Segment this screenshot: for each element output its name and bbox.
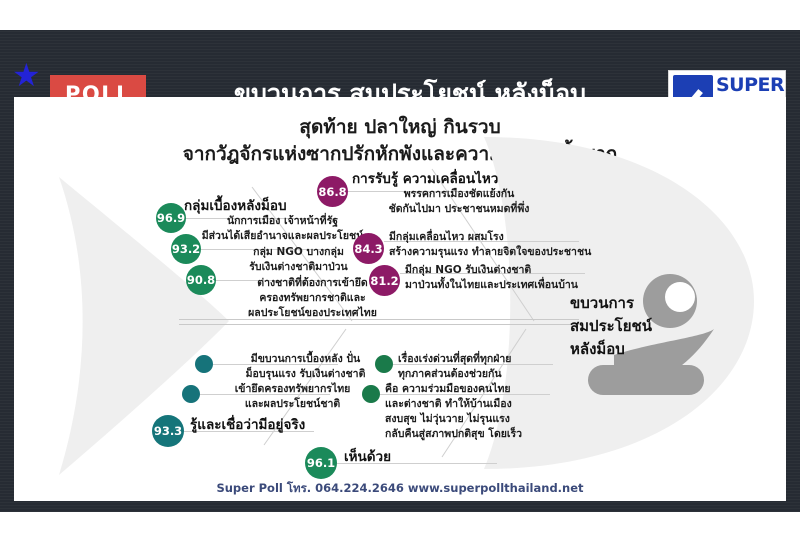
header-bar: ★ POLL ขบวนการ สมประโยชน์ หลังม็อบ SUPER… xyxy=(0,30,800,97)
dot-bottom-right-1 xyxy=(375,355,393,373)
br2-line-4: กลับคืนสู่สภาพปกติสุข โดยเร็ว xyxy=(385,427,522,442)
badge-top-left-3: 90.8 xyxy=(186,265,216,295)
head-label-line-2: สมประโยชน์ xyxy=(570,315,652,338)
br2-line-1: คือ ความร่วมมือของคนไทย xyxy=(385,382,522,397)
branch-bottom-right-item-2: คือ ความร่วมมือของคนไทย และต่างชาติ ทำให… xyxy=(385,382,522,442)
content-card: สุดท้าย ปลาใหญ่ กินรวบ จากวัฎจักรแห่งซาก… xyxy=(14,97,786,501)
head-label-line-1: ขบวนการ xyxy=(570,292,652,315)
branch-top-right-item-2: มีกลุ่มเคลื่อนไหว ผสมโรง สร้างความรุนแรง… xyxy=(389,230,591,260)
tl1-line-2: มีส่วนได้เสียอำนาจและผลประโยชน์ xyxy=(190,229,375,244)
infographic-root: ★ POLL ขบวนการ สมประโยชน์ หลังม็อบ SUPER… xyxy=(0,0,800,546)
tl1-line-1: นักการเมือง เจ้าหน้าที่รัฐ xyxy=(190,214,375,229)
tl3-line-3: ผลประโยชน์ของประเทศไทย xyxy=(220,306,405,321)
branch-top-right-item-3: มีกลุ่ม NGO รับเงินต่างชาติ มาป่วนทั้งใน… xyxy=(405,263,578,293)
badge-top-right-1: 86.8 xyxy=(317,176,348,207)
branch-top-left: กลุ่มเบื้องหลังม็อบ xyxy=(184,194,287,216)
fish-fin-lower-icon xyxy=(588,365,704,395)
br1-line-1: เรื่องเร่งด่วนที่สุดที่ทุกฝ่าย xyxy=(398,352,511,367)
badge-bottom-left: 93.3 xyxy=(152,415,184,447)
bl2-line-2: และผลประโยชน์ชาติ xyxy=(205,397,380,412)
footer-contact: Super Poll โทร. 064.224.2646 www.superpo… xyxy=(14,480,786,498)
tr1-line-1: พรรคการเมืองชัดแย้งกัน xyxy=(354,187,564,202)
branch-bottom-left-heading: รู้และเชื่อว่ามีอยู่จริง xyxy=(190,413,305,435)
branch-bottom-left-item-2: เข้ายึดครองทรัพยากรไทย และผลประโยชน์ชาติ xyxy=(205,382,380,412)
dot-bottom-left-1 xyxy=(195,355,213,373)
badge-top-right-3: 81.2 xyxy=(369,265,400,296)
tr1-line-2: ชัดกันไปมา ประชาชนหมดที่พึ่ง xyxy=(354,202,564,217)
br2-line-2: และต่างชาติ ทำให้บ้านเมือง xyxy=(385,397,522,412)
branch-top-left-heading: กลุ่มเบื้องหลังม็อบ xyxy=(184,194,287,216)
head-label-line-3: หลังม็อบ xyxy=(570,338,652,361)
tr2-line-1: มีกลุ่มเคลื่อนไหว ผสมโรง xyxy=(389,230,591,245)
branch-top-right-heading: การรับรู้ ความเคลื่อนไหว xyxy=(352,167,498,189)
logo-super-text: SUPER xyxy=(716,76,784,95)
dot-bottom-right-2 xyxy=(362,385,380,403)
branch-bottom-right: เห็นด้วย xyxy=(344,445,391,467)
br1-line-2: ทุกภาคส่วนต้องช่วยกัน xyxy=(398,367,511,382)
branch-top-right: การรับรู้ ความเคลื่อนไหว xyxy=(352,167,498,189)
branch-top-left-item-1: นักการเมือง เจ้าหน้าที่รัฐ มีส่วนได้เสีย… xyxy=(190,214,375,244)
tr3-line-1: มีกลุ่ม NGO รับเงินต่างชาติ xyxy=(405,263,578,278)
tr2-line-2: สร้างความรุนแรง ทำลายจิตใจของประชาชน xyxy=(389,245,591,260)
badge-top-left-2: 93.2 xyxy=(171,234,201,264)
dot-bottom-left-2 xyxy=(182,385,200,403)
badge-top-right-2: 84.3 xyxy=(353,233,384,264)
branch-top-right-item-1: พรรคการเมืองชัดแย้งกัน ชัดกันไปมา ประชาช… xyxy=(354,187,564,217)
badge-bottom-right: 96.1 xyxy=(305,447,337,479)
branch-bottom-left: รู้และเชื่อว่ามีอยู่จริง xyxy=(190,413,305,435)
branch-bottom-left-item-1: มีขบวนการเบื้องหลัง ปั่น ม็อบรุนแรง รับเ… xyxy=(218,352,393,382)
badge-top-left-1: 96.9 xyxy=(156,203,186,233)
fish-pupil-icon xyxy=(665,282,695,312)
bl1-line-2: ม็อบรุนแรง รับเงินต่างชาติ xyxy=(218,367,393,382)
bl1-line-1: มีขบวนการเบื้องหลัง ปั่น xyxy=(218,352,393,367)
fish-head-label: ขบวนการ สมประโยชน์ หลังม็อบ xyxy=(570,292,652,361)
branch-bottom-right-heading: เห็นด้วย xyxy=(344,445,391,467)
bl2-line-1: เข้ายึดครองทรัพยากรไทย xyxy=(205,382,380,397)
tr3-line-2: มาป่วนทั้งในไทยและประเทศเพื่อนบ้าน xyxy=(405,278,578,293)
branch-bottom-right-item-1: เรื่องเร่งด่วนที่สุดที่ทุกฝ่าย ทุกภาคส่ว… xyxy=(398,352,511,382)
br2-line-3: สงบสุข ไม่วุ่นวาย ไม่รุนแรง xyxy=(385,412,522,427)
